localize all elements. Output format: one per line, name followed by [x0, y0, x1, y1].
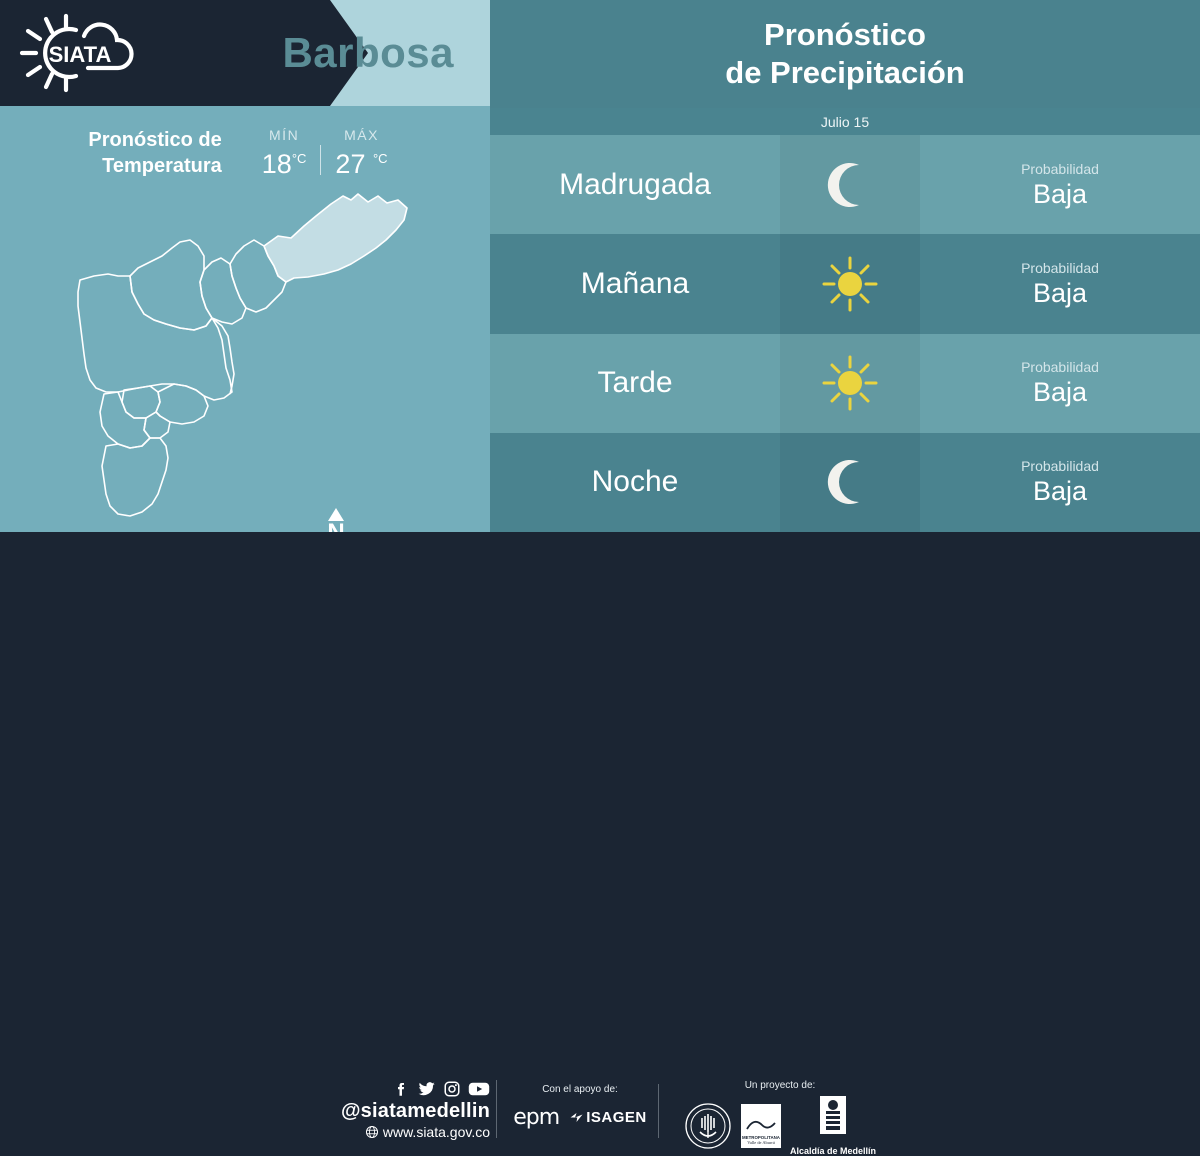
max-label: MÁX [335, 127, 387, 143]
map-svg [46, 178, 446, 530]
probability-cell: Probabilidad Baja [920, 234, 1200, 333]
instagram-icon[interactable] [443, 1080, 461, 1098]
alcaldia-label: Alcaldía de Medellín [790, 1146, 876, 1156]
sun-icon [820, 254, 880, 314]
temperature-title-line2: Temperatura [102, 155, 222, 177]
forecast-title-line2: de Precipitación [725, 55, 964, 90]
sun-icon [820, 353, 880, 413]
alcaldia-crest-icon [818, 1095, 848, 1139]
sun-cloud-icon: SIATA [14, 10, 142, 96]
map-municipality-la-estrella [100, 392, 150, 448]
svg-text:Valle de Aburrá: Valle de Aburrá [747, 1140, 775, 1145]
area-metropolitana-valle-de-aburra: METROPOLITANA Valle de Aburrá [740, 1103, 782, 1149]
period-label: Mañana [490, 234, 780, 333]
weather-icon-cell [780, 234, 920, 333]
max-unit: °C [373, 151, 388, 166]
max-value: 27 °C [335, 144, 387, 179]
globe-icon [365, 1125, 379, 1139]
forecast-rows: Madrugada Probabilidad Baja Mañana [490, 135, 1200, 532]
forecast-header: Pronóstico de Precipitación [490, 0, 1200, 108]
twitter-icon[interactable] [417, 1080, 436, 1098]
probability-value: Baja [1033, 277, 1087, 309]
probability-label: Probabilidad [1021, 160, 1099, 178]
probability-label: Probabilidad [1021, 358, 1099, 376]
forecast-date: Julio 15 [490, 108, 1200, 135]
project-block: Un proyecto de: METROPOLITANA Valle de A… [665, 1080, 895, 1156]
period-label: Madrugada [490, 135, 780, 234]
temperature-max: MÁX 27 °C [321, 127, 401, 179]
map-municipality-barbosa [264, 194, 407, 282]
footer: @siatamedellin www.siata.gov.co Con el a… [0, 532, 1200, 630]
left-panel: SIATA Barbosa Pronóstico de Temperatura … [0, 0, 490, 532]
weather-icon-cell [780, 334, 920, 433]
probability-value: Baja [1033, 178, 1087, 210]
table-row: Tarde [490, 334, 1200, 433]
moon-icon [822, 454, 878, 510]
min-label: MÍN [262, 127, 307, 143]
table-row: Madrugada Probabilidad Baja [490, 135, 1200, 234]
probability-value: Baja [1033, 376, 1087, 408]
website-line[interactable]: www.siata.gov.co [300, 1123, 490, 1141]
map-municipality-bello [130, 240, 212, 330]
table-row: Mañana [490, 234, 1200, 333]
support-caption: Con el apoyo de: [505, 1084, 655, 1095]
isagen-wordmark: ISAGEN [586, 1109, 647, 1126]
map-municipality-caldas [102, 438, 168, 516]
footer-divider-2 [658, 1084, 659, 1138]
temperature-values: MÍN 18°C MÁX 27 °C [248, 127, 402, 179]
left-header: SIATA Barbosa [0, 0, 490, 106]
min-unit: °C [292, 151, 307, 166]
map-municipality-copacabana [200, 258, 246, 324]
table-row: Noche Probabilidad Baja [490, 433, 1200, 532]
isagen-mark-icon [569, 1110, 584, 1125]
temperature-min: MÍN 18°C [248, 127, 321, 179]
forecast-panel: Pronóstico de Precipitación Julio 15 Mad… [490, 0, 1200, 532]
forecast-title: Pronóstico de Precipitación [725, 16, 964, 92]
period-label: Tarde [490, 334, 780, 433]
probability-label: Probabilidad [1021, 259, 1099, 277]
isagen-logo: ISAGEN [569, 1109, 647, 1126]
forecast-title-line1: Pronóstico [764, 17, 926, 52]
footer-divider-1 [496, 1080, 497, 1138]
city-name: Barbosa [150, 0, 480, 106]
project-logos: METROPOLITANA Valle de Aburrá Alcaldía d… [665, 1095, 895, 1156]
aburra-valley-map: N [46, 178, 446, 530]
probability-label: Probabilidad [1021, 457, 1099, 475]
moon-icon [822, 157, 878, 213]
facebook-icon[interactable] [392, 1080, 410, 1098]
probability-cell: Probabilidad Baja [920, 135, 1200, 234]
epm-logo: epm [513, 1105, 559, 1130]
weather-icon-cell [780, 135, 920, 234]
infographic-canvas: SIATA Barbosa Pronóstico de Temperatura … [0, 0, 1200, 630]
social-handle[interactable]: @siatamedellin [300, 1100, 490, 1123]
probability-value: Baja [1033, 475, 1087, 507]
probability-cell: Probabilidad Baja [920, 433, 1200, 532]
website-url: www.siata.gov.co [383, 1123, 490, 1141]
svg-text:SIATA: SIATA [49, 42, 112, 67]
social-block: @siatamedellin www.siata.gov.co [300, 1080, 490, 1141]
weather-icon-cell [780, 433, 920, 532]
probability-cell: Probabilidad Baja [920, 334, 1200, 433]
period-label: Noche [490, 433, 780, 532]
alcaldia-medellin-logo: Alcaldía de Medellín [790, 1095, 876, 1156]
min-value: 18°C [262, 144, 307, 179]
social-icons [300, 1080, 490, 1098]
project-caption: Un proyecto de: [665, 1080, 895, 1091]
youtube-icon[interactable] [468, 1080, 490, 1098]
universidad-de-antioquia-seal [684, 1102, 732, 1150]
temperature-title: Pronóstico de Temperatura [88, 127, 221, 179]
temperature-title-line1: Pronóstico de [88, 129, 221, 151]
support-block: Con el apoyo de: epm ISAGEN [505, 1084, 655, 1130]
map-municipality-medellin [78, 274, 232, 400]
support-logos: epm ISAGEN [505, 1105, 655, 1130]
